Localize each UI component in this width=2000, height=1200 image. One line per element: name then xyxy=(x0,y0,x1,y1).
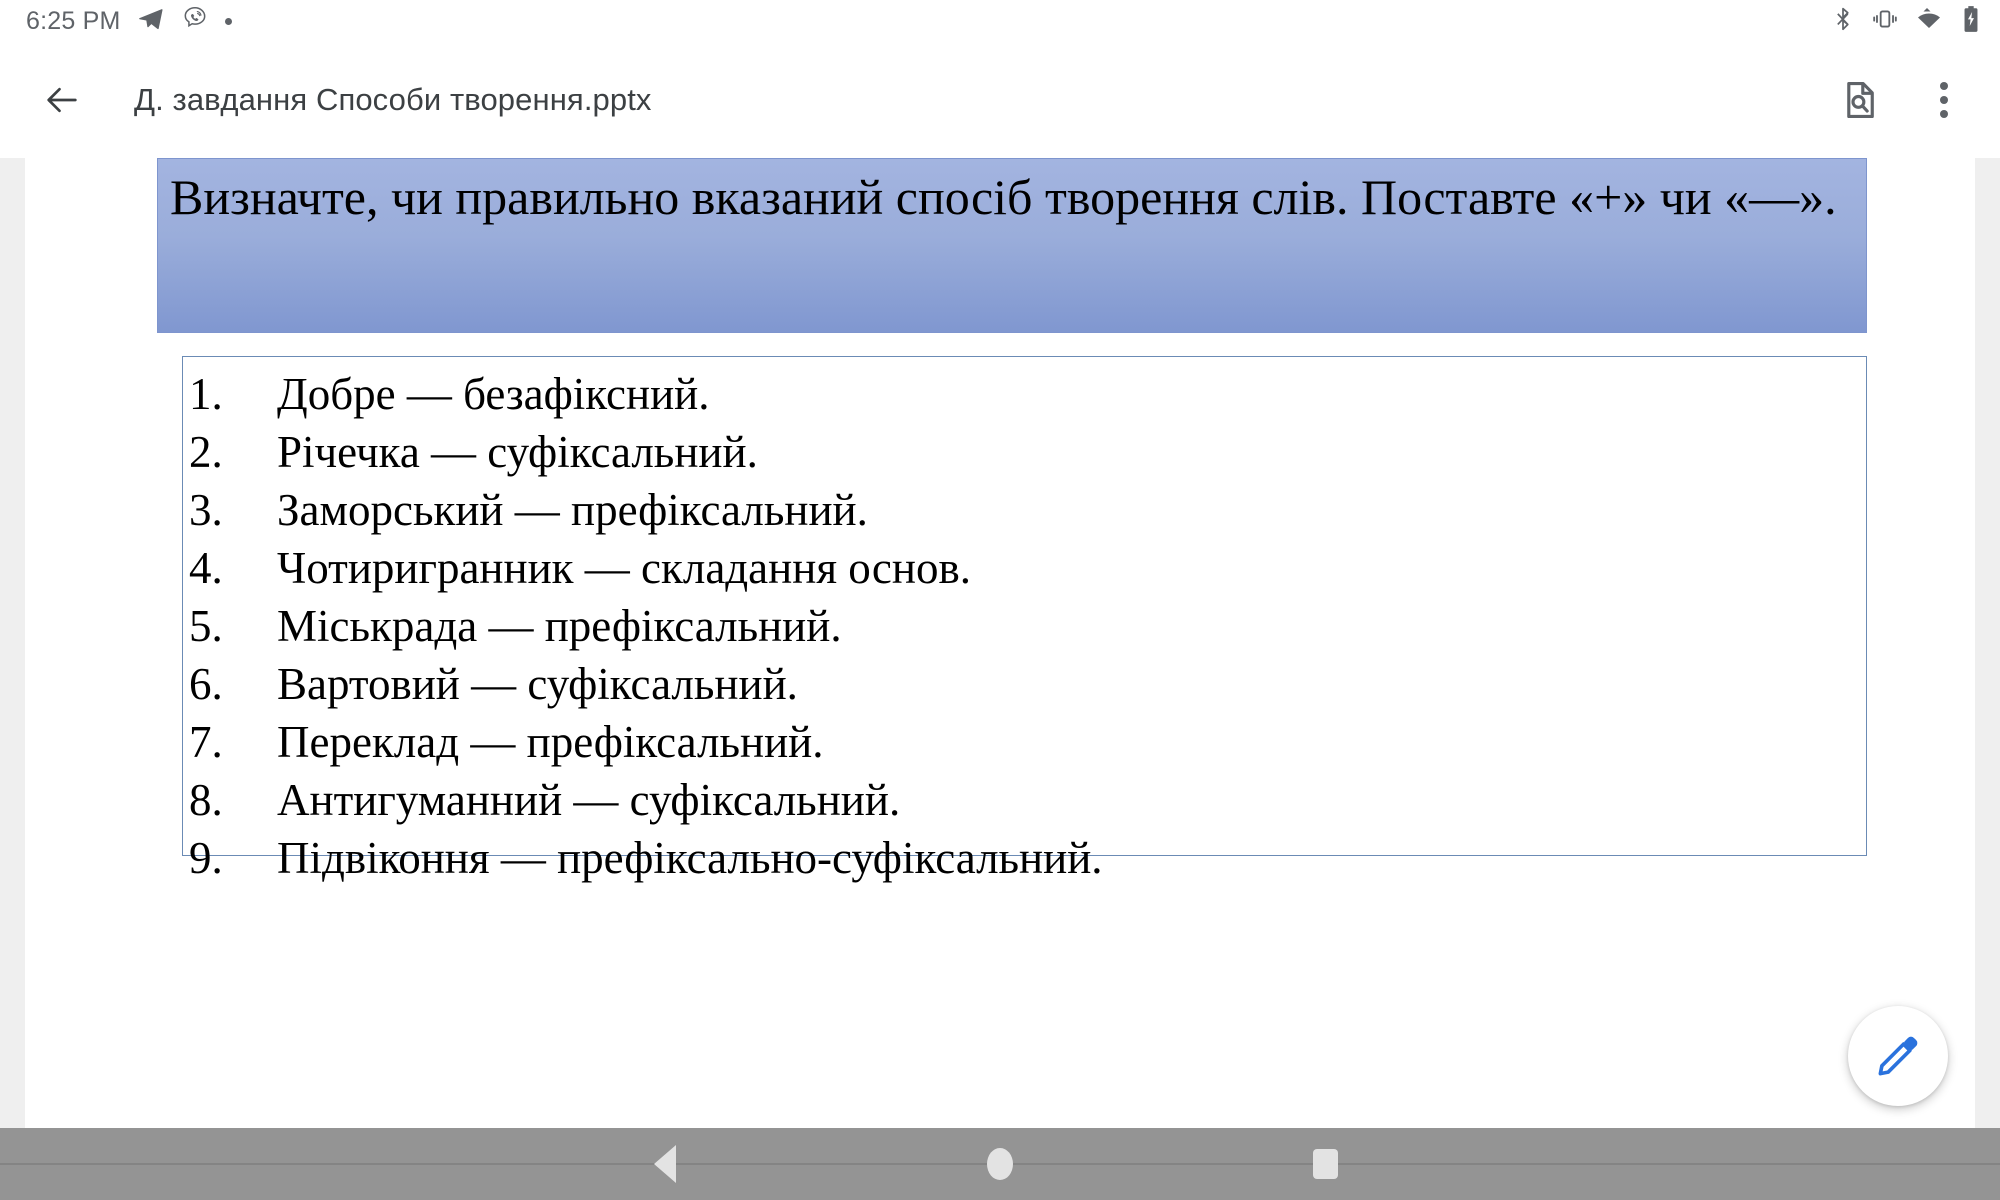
find-in-document-button[interactable] xyxy=(1832,72,1888,128)
task-item-text: Чотиригранник — складання основ. xyxy=(277,539,1866,597)
task-item-number: 1. xyxy=(189,365,277,423)
task-item-text: Заморський — префіксальний. xyxy=(277,481,1866,539)
nav-back-button[interactable] xyxy=(595,1128,735,1200)
task-item-text: Міськрада — префіксальний. xyxy=(277,597,1866,655)
overflow-menu-button[interactable] xyxy=(1916,72,1972,128)
toolbar-actions xyxy=(1832,72,2000,128)
task-list-item: 5.Міськрада — префіксальний. xyxy=(183,597,1866,655)
nav-back-triangle-icon xyxy=(654,1145,676,1183)
slide-title-box: Визначте, чи правильно вказаний спосіб т… xyxy=(157,158,1867,333)
task-list-item: 2.Річечка — суфіксальний. xyxy=(183,423,1866,481)
android-nav-bar xyxy=(0,1128,2000,1200)
bluetooth-icon xyxy=(1830,6,1856,37)
battery-charging-icon xyxy=(1960,5,1982,38)
vibrate-icon xyxy=(1872,6,1898,37)
task-list-item: 9.Підвіконня — префіксально-суфіксальний… xyxy=(183,829,1866,887)
back-button[interactable] xyxy=(22,80,102,120)
task-item-text: Річечка — суфіксальний. xyxy=(277,423,1866,481)
status-clock: 6:25 PM xyxy=(26,9,121,34)
task-item-text: Добре — безафіксний. xyxy=(277,365,1866,423)
task-list-item: 3.Заморський — префіксальний. xyxy=(183,481,1866,539)
task-list-item: 8.Антигуманний — суфіксальний. xyxy=(183,771,1866,829)
task-item-number: 8. xyxy=(189,771,277,829)
dot-indicator-icon xyxy=(225,18,232,25)
document-title: Д. завдання Способи творення.pptx xyxy=(134,82,652,118)
app-toolbar: Д. завдання Способи творення.pptx xyxy=(0,42,2000,158)
slide-title-text: Визначте, чи правильно вказаний спосіб т… xyxy=(170,167,1852,228)
status-bar-right xyxy=(1830,5,1982,38)
task-item-text: Вартовий — суфіксальний. xyxy=(277,655,1866,713)
task-item-text: Підвіконня — префіксально-суфіксальний. xyxy=(277,829,1866,887)
task-list-item: 1.Добре — безафіксний. xyxy=(183,365,1866,423)
nav-home-circle-icon xyxy=(987,1148,1013,1180)
task-item-text: Антигуманний — суфіксальний. xyxy=(277,771,1866,829)
more-vert-icon xyxy=(1940,82,1948,118)
edit-fab-button[interactable] xyxy=(1848,1006,1948,1106)
nav-recents-square-icon xyxy=(1313,1149,1338,1179)
nav-recents-button[interactable] xyxy=(1255,1128,1395,1200)
back-arrow-icon xyxy=(42,80,82,120)
task-item-number: 7. xyxy=(189,713,277,771)
task-item-number: 9. xyxy=(189,829,277,887)
document-content-area[interactable]: Визначте, чи правильно вказаний спосіб т… xyxy=(0,158,2000,1128)
task-list-item: 7.Переклад — префіксальний. xyxy=(183,713,1866,771)
slide-list-box: 1.Добре — безафіксний.2.Річечка — суфікс… xyxy=(182,356,1867,856)
viber-icon xyxy=(181,5,209,38)
nav-home-button[interactable] xyxy=(930,1128,1070,1200)
task-item-number: 6. xyxy=(189,655,277,713)
find-in-document-icon xyxy=(1839,79,1881,121)
task-item-text: Переклад — префіксальний. xyxy=(277,713,1866,771)
slide-page: Визначте, чи правильно вказаний спосіб т… xyxy=(25,158,1975,1128)
status-bar: 6:25 PM xyxy=(0,0,2000,42)
wifi-icon xyxy=(1914,6,1944,37)
task-list-item: 4.Чотиригранник — складання основ. xyxy=(183,539,1866,597)
telegram-icon xyxy=(137,5,165,38)
status-bar-left: 6:25 PM xyxy=(26,5,232,38)
task-list: 1.Добре — безафіксний.2.Річечка — суфікс… xyxy=(183,365,1866,887)
task-item-number: 2. xyxy=(189,423,277,481)
task-item-number: 3. xyxy=(189,481,277,539)
task-item-number: 4. xyxy=(189,539,277,597)
task-list-item: 6.Вартовий — суфіксальний. xyxy=(183,655,1866,713)
phone-screen: 6:25 PM xyxy=(0,0,2000,1200)
edit-pencil-icon xyxy=(1875,1033,1921,1079)
task-item-number: 5. xyxy=(189,597,277,655)
